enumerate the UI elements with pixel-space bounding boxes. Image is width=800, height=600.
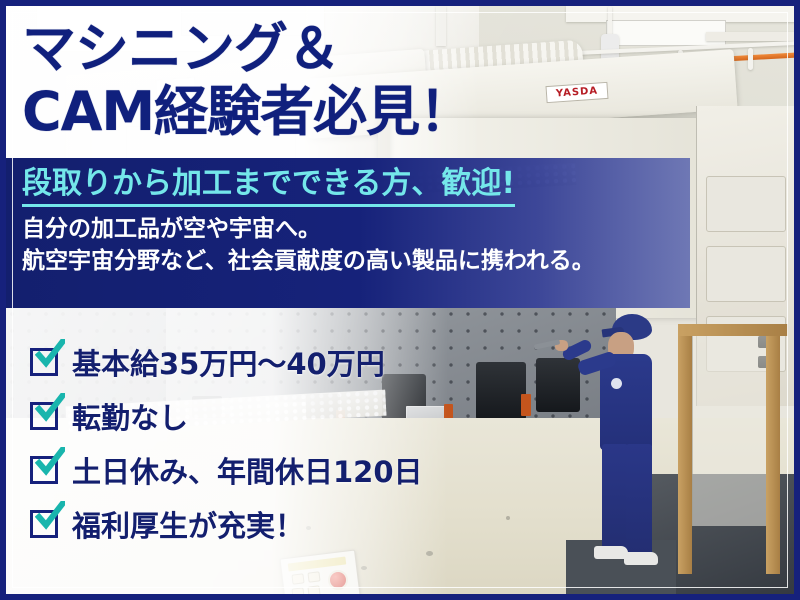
band-heading: 段取りから加工までできる方、歓迎! — [22, 166, 515, 207]
checklist-item-label: 転勤なし — [72, 395, 188, 437]
checklist-item: 福利厚生が充実！ — [30, 497, 423, 551]
band-sub-line-2: 航空宇宙分野など、社会貢献度の高い製品に携われる。 — [22, 246, 682, 277]
checklist-item: 土日休み、年間休日120日 — [30, 443, 423, 497]
checklist-item-label: 福利厚生が充実！ — [72, 503, 304, 545]
checkbox-checked-icon — [30, 510, 58, 538]
checklist-item-label: 土日休み、年間休日120日 — [72, 449, 423, 491]
checkbox-checked-icon — [30, 402, 58, 430]
benefits-checklist: 基本給35万円〜40万円転勤なし土日休み、年間休日120日福利厚生が充実！ — [30, 335, 423, 551]
headline-line-1: マシニング＆ — [22, 18, 582, 81]
band-sub-line-1: 自分の加工品が空や宇宙へ。 — [22, 214, 682, 245]
checkbox-checked-icon — [30, 348, 58, 376]
band-text-block: 段取りから加工までできる方、歓迎! 自分の加工品が空や宇宙へ。 航空宇宙分野など… — [22, 166, 682, 277]
checkmark-icon — [35, 447, 65, 477]
checklist-item: 転勤なし — [30, 389, 423, 443]
checkmark-icon — [35, 393, 65, 423]
checkmark-icon — [35, 501, 65, 531]
checkmark-icon — [35, 339, 65, 369]
checklist-item-label: 基本給35万円〜40万円 — [72, 341, 385, 383]
job-ad-banner: YASDA YASKAWA — [0, 0, 800, 600]
page-title: マシニング＆ CAM経験者必見！ — [22, 18, 582, 143]
checklist-item: 基本給35万円〜40万円 — [30, 335, 423, 389]
checkbox-checked-icon — [30, 456, 58, 484]
headline-line-2: CAM経験者必見！ — [22, 81, 582, 144]
